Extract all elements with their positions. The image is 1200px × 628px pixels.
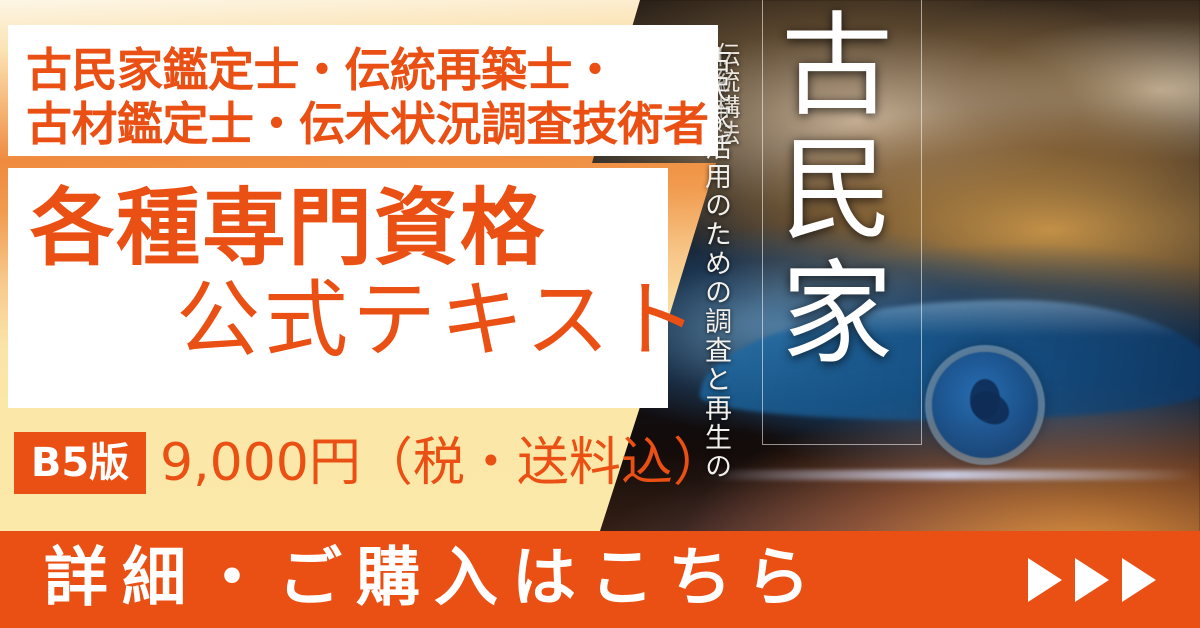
certification-lines: 古民家鑑定士・伝統再築士・ 古材鑑定士・伝木状況調査技術者 — [26, 43, 726, 151]
main-title-box: 各種専門資格 公式テキスト — [8, 168, 668, 408]
cta-bar[interactable]: 詳細・ご購入はこちら — [0, 531, 1200, 628]
certification-line-1: 古民家鑑定士・伝統再築士・ — [26, 43, 726, 97]
book-cover-title: 古民家 — [778, 6, 898, 378]
cta-label: 詳細・ご購入はこちら — [44, 544, 824, 612]
triangle-right-icon — [1122, 558, 1156, 602]
main-title-line-1: 各種専門資格 — [30, 182, 546, 274]
certification-box: 古民家鑑定士・伝統再築士・ 古材鑑定士・伝木状況調査技術者 — [8, 25, 718, 156]
family-crest-mon-icon — [932, 352, 1038, 458]
triangle-right-icon — [1028, 558, 1062, 602]
certification-line-2: 古材鑑定士・伝木状況調査技術者 — [26, 97, 726, 151]
price-label: 9,000円（税・送料込） — [160, 430, 725, 496]
highlight-glow-line — [700, 470, 1200, 480]
format-badge-b5: B5版 — [14, 432, 146, 494]
promo-banner[interactable]: 古民家 伝統構法 古民家活用のための調査と再生の 古民家鑑定士・伝統再築士・ 古… — [0, 0, 1200, 628]
cta-arrow-group — [1028, 558, 1156, 602]
triangle-right-icon — [1075, 558, 1109, 602]
main-title-line-2: 公式テキスト — [176, 274, 701, 366]
